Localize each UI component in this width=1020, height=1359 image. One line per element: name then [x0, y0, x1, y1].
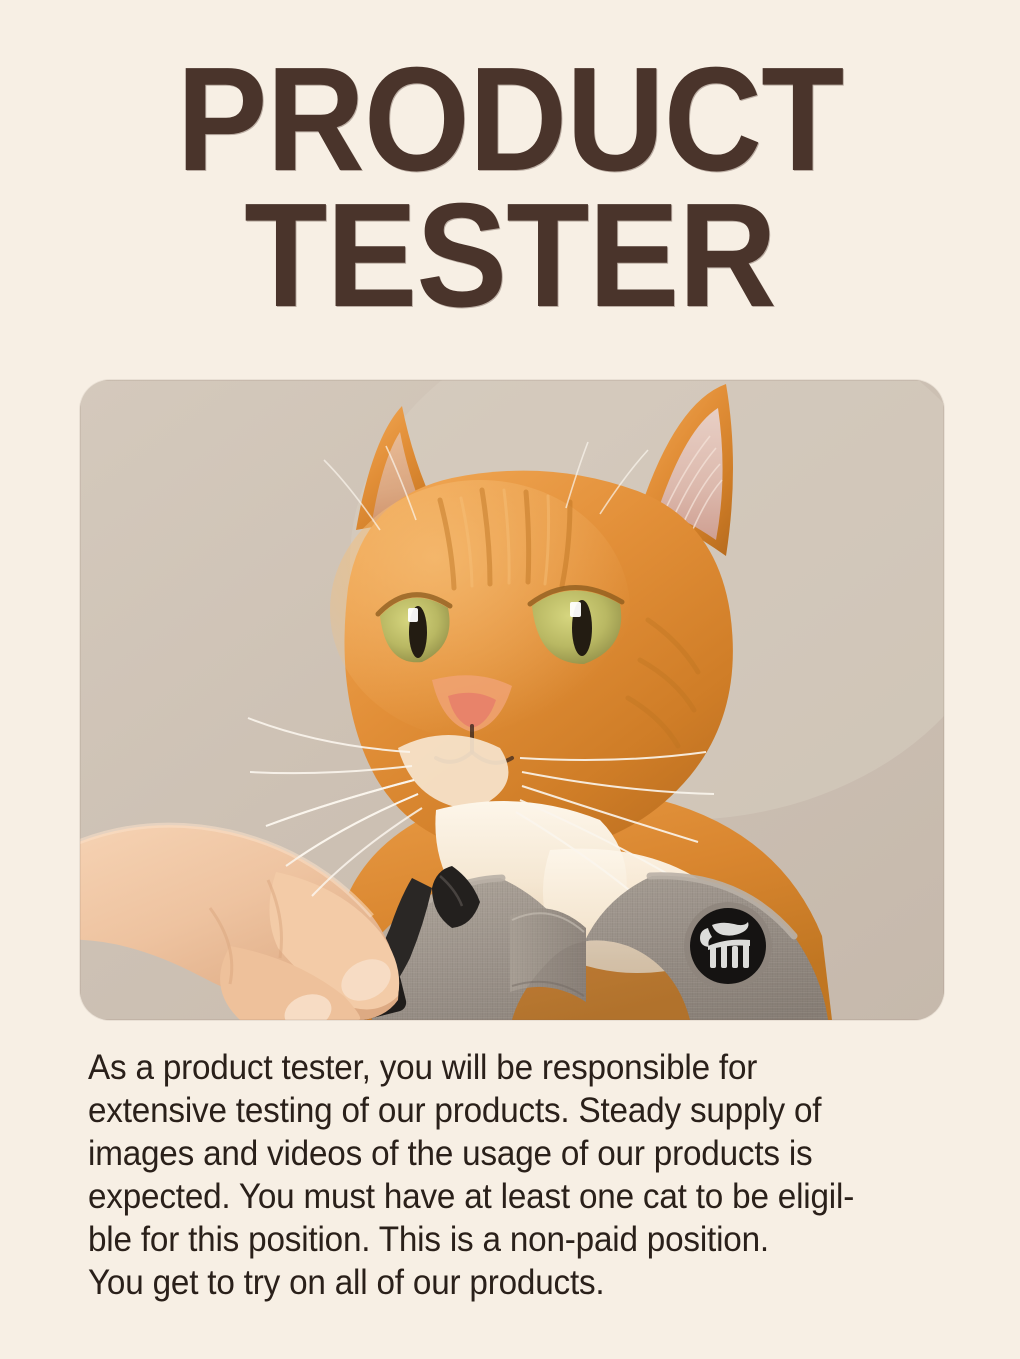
description-line: As a product tester, you will be respons… [88, 1046, 915, 1089]
description-line: expected. You must have at least one cat… [88, 1175, 915, 1218]
cat-harness-illustration [80, 380, 944, 1020]
poster-canvas: PRODUCT TESTER [0, 0, 1020, 1359]
description-line: extensive testing of our products. Stead… [88, 1089, 915, 1132]
headline-line-1: PRODUCT [41, 52, 979, 188]
headline-line-2: TESTER [41, 188, 979, 324]
page-title: PRODUCT TESTER [0, 52, 1020, 324]
description-line: images and videos of the usage of our pr… [88, 1132, 915, 1175]
description-line: ble for this position. This is a non-pai… [88, 1218, 915, 1261]
job-description: As a product tester, you will be respons… [88, 1046, 958, 1304]
description-line: You get to try on all of our products. [88, 1261, 915, 1304]
product-photo [80, 380, 944, 1020]
harness-logo-badge [684, 902, 772, 990]
